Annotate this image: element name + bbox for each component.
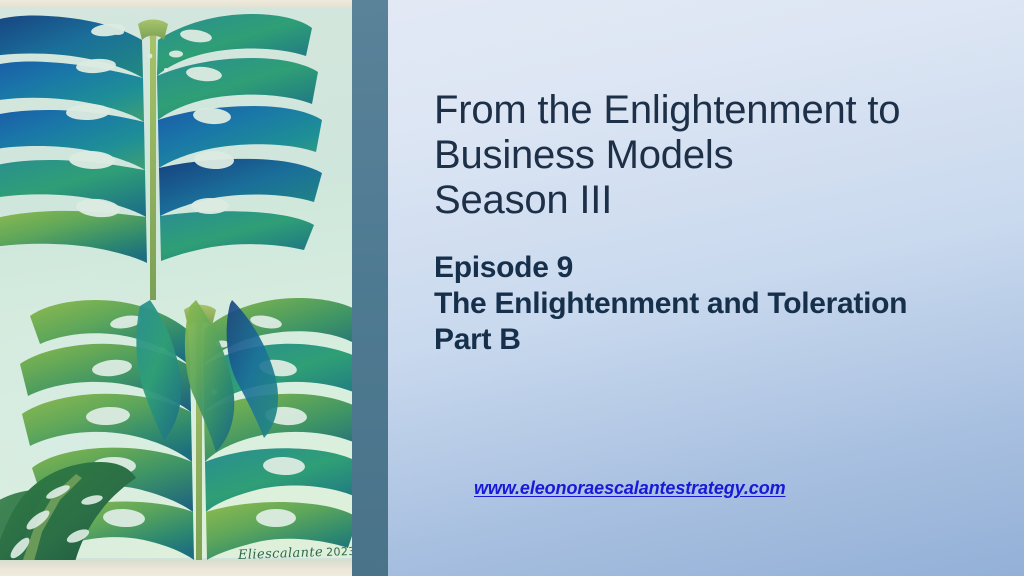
title-line-2: Business Models — [434, 133, 1014, 178]
episode-line-1: Episode 9 — [434, 250, 1014, 286]
website-link-row: www.eleonoraescalantestrategy.com — [474, 478, 994, 499]
title-line-3: Season III — [434, 178, 1014, 223]
presentation-slide: Eliescalante2023 From the Enlightenment … — [0, 0, 1024, 576]
paper-bottom-edge — [0, 560, 352, 576]
accent-band — [352, 0, 388, 576]
title-line-1: From the Enlightenment to — [434, 88, 1014, 133]
episode-subtitle: Episode 9 The Enlightenment and Tolerati… — [434, 250, 1014, 358]
leaf-upper-left — [0, 15, 147, 263]
paper-top-edge — [0, 0, 352, 7]
signature-name: Eliescalante — [238, 545, 324, 563]
episode-line-3: Part B — [434, 322, 1014, 358]
website-link[interactable]: www.eleonoraescalantestrategy.com — [474, 478, 786, 498]
signature-year: 2023 — [326, 545, 352, 559]
leaf-upper-midrib — [148, 26, 158, 300]
slide-title: From the Enlightenment to Business Model… — [434, 88, 1014, 223]
artwork-panel: Eliescalante2023 — [0, 0, 352, 576]
leaf-upper-right — [157, 14, 322, 261]
slide-content: From the Enlightenment to Business Model… — [388, 0, 1024, 576]
episode-line-2: The Enlightenment and Toleration — [434, 286, 1014, 322]
monstera-leaves-illustration — [0, 0, 352, 576]
